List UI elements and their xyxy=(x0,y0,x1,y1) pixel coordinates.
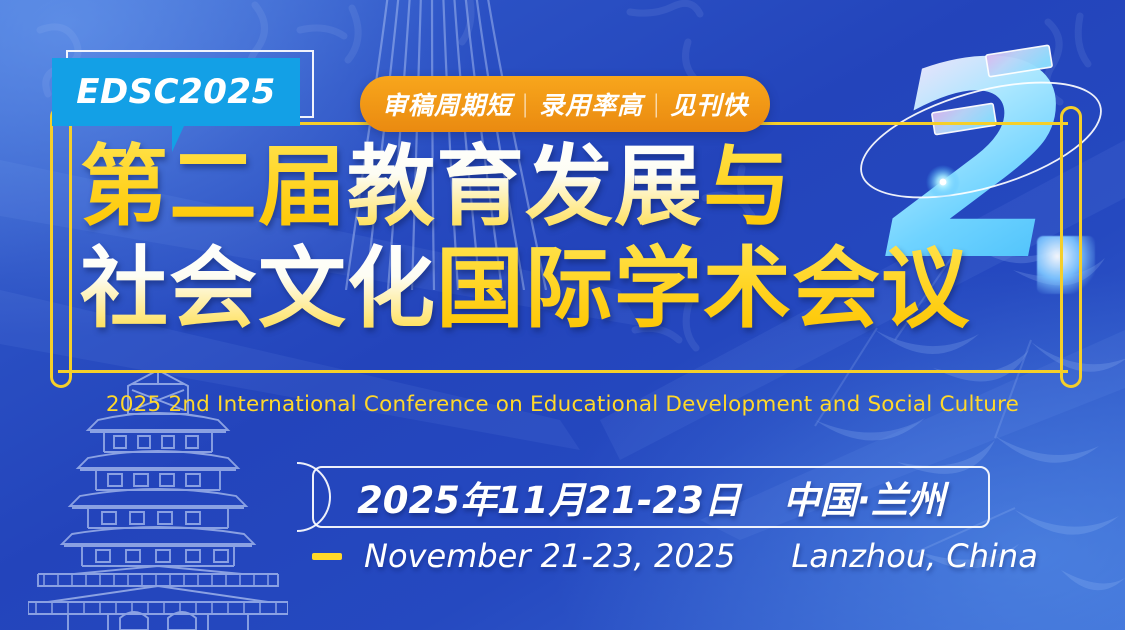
title-line2-seg2: 国际学术会议 xyxy=(436,237,970,340)
conference-title: 第二届教育发展与 社会文化国际学术会议 xyxy=(80,136,1060,340)
title-line1-seg1: 第二届 xyxy=(80,135,347,238)
highlight-separator-2: | xyxy=(643,90,670,118)
title-line-2: 社会文化国际学术会议 xyxy=(80,238,1060,340)
date-chinese: 2025年11月21-23日 xyxy=(357,470,741,524)
conference-code-tag: EDSC2025 xyxy=(52,58,300,126)
english-subtitle: 2025 2nd International Conference on Edu… xyxy=(0,392,1125,417)
highlight-item-1: 审稿周期短 xyxy=(382,86,512,122)
title-line2-seg1: 社会文化 xyxy=(80,237,436,340)
dash-marker-icon xyxy=(312,553,342,560)
conference-banner: 2 EDSC2025 审稿周期短 | 录用率高 | 见刊快 第 xyxy=(0,0,1125,630)
date-location-english: November 21-23, 2025 Lanzhou, China xyxy=(312,533,1002,579)
tag-body: EDSC2025 xyxy=(52,58,300,126)
title-line1-seg2: 教育发展 xyxy=(347,135,703,238)
date-location-chinese: 2025年11月21-23日 中国·兰州 xyxy=(312,466,990,528)
date-english: November 21-23, 2025 xyxy=(364,537,735,575)
highlights-pill: 审稿周期短 | 录用率高 | 见刊快 xyxy=(360,76,770,132)
location-english: Lanzhou, China xyxy=(791,537,1037,575)
highlight-separator-1: | xyxy=(512,90,539,118)
highlight-item-3: 见刊快 xyxy=(670,86,748,122)
location-chinese: 中国·兰州 xyxy=(783,470,945,524)
title-line1-seg3: 与 xyxy=(703,135,792,238)
title-line-1: 第二届教育发展与 xyxy=(80,136,1060,238)
frame-line-bottom xyxy=(58,370,1068,373)
frame-bar-right xyxy=(1060,106,1082,388)
conference-code-label: EDSC2025 xyxy=(76,72,276,112)
highlight-item-2: 录用率高 xyxy=(539,86,643,122)
frame-bar-left xyxy=(50,106,72,388)
